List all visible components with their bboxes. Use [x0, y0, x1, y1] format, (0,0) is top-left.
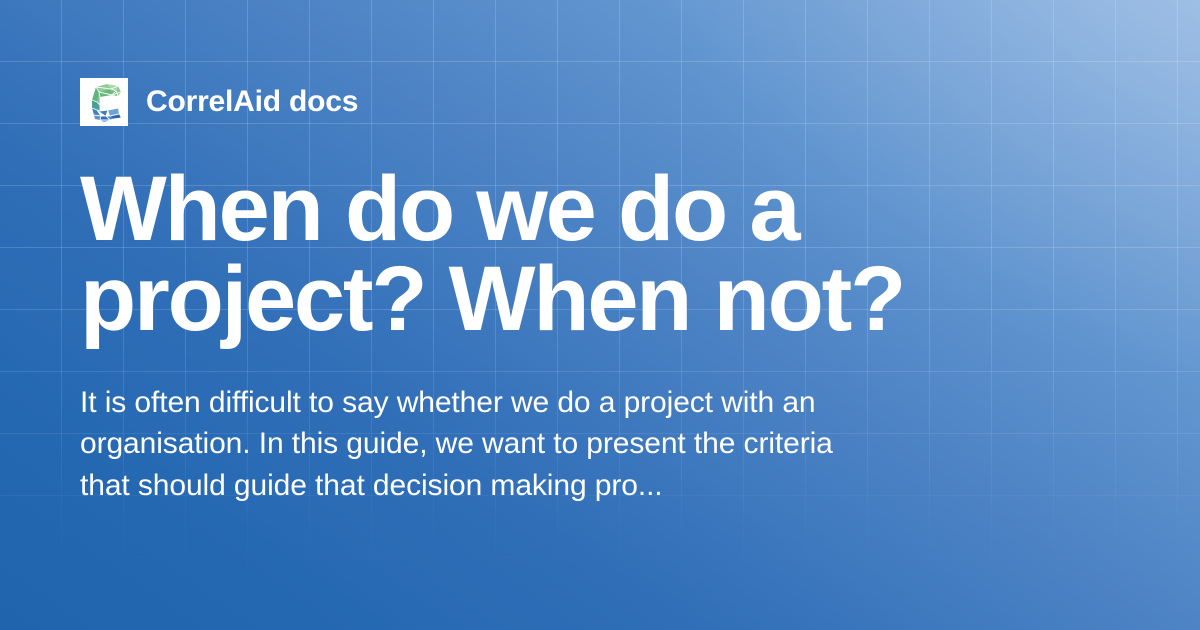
correlaid-c-logo-icon [80, 78, 128, 126]
page-title: When do we do a project? When not? [80, 164, 940, 344]
brand-name-label: CorrelAid docs [146, 87, 358, 117]
card-content: CorrelAid docs When do we do a project? … [0, 0, 1200, 506]
brand-row: CorrelAid docs [80, 78, 1120, 126]
social-preview-card: CorrelAid docs When do we do a project? … [0, 0, 1200, 630]
page-description: It is often difficult to say whether we … [80, 382, 870, 505]
